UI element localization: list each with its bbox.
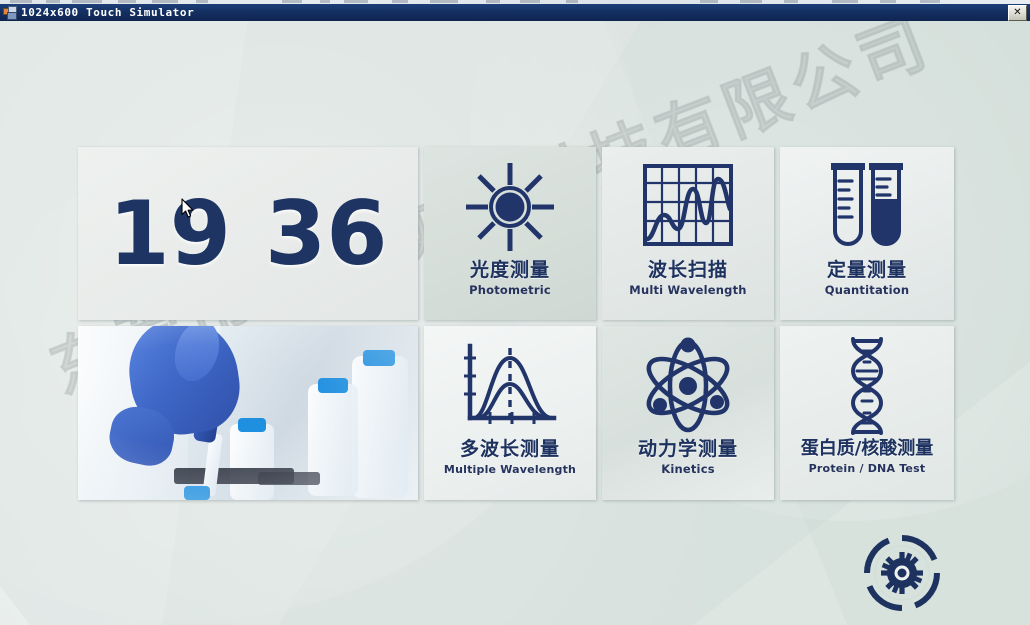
lab-photo-tile[interactable] xyxy=(78,326,418,500)
clock-display: 19 36 xyxy=(78,147,418,320)
clock-tile[interactable]: 19 36 xyxy=(78,147,418,320)
tile-kinetics[interactable]: 动力学测量 Kinetics xyxy=(602,326,774,500)
tile-kinetics-labels: 动力学测量 Kinetics xyxy=(602,440,774,476)
settings-button[interactable] xyxy=(862,533,942,613)
app-window-icon xyxy=(3,6,16,19)
tile-protein-dna-labels: 蛋白质/核酸测量 Protein / DNA Test xyxy=(780,440,954,474)
window-title: 1024x600 Touch Simulator xyxy=(21,6,194,19)
spectrum-graph-icon xyxy=(602,153,774,261)
tile-multi-wavelength-label-en: Multi Wavelength xyxy=(602,285,774,297)
tile-multi-wavelength-label-cn: 波长扫描 xyxy=(602,261,774,280)
tile-protein-dna[interactable]: 蛋白质/核酸测量 Protein / DNA Test xyxy=(780,326,954,500)
clock-minutes: 36 xyxy=(265,190,387,278)
tile-multiple-wavelength[interactable]: 多波长测量 Multiple Wavelength xyxy=(424,326,596,500)
gear-icon xyxy=(862,533,942,613)
simulator-client-area: 东莞市普标实验科技有限公司 19 36 xyxy=(0,21,1030,625)
touch-simulator-window: 1024x600 Touch Simulator ✕ 东莞市普标实验科技有限公司… xyxy=(0,0,1030,625)
tile-quantitation[interactable]: 定量测量 Quantitation xyxy=(780,147,954,320)
close-icon[interactable]: ✕ xyxy=(1008,5,1027,21)
test-tubes-icon xyxy=(780,153,954,261)
dna-helix-icon xyxy=(780,332,954,440)
tile-protein-dna-label-cn: 蛋白质/核酸测量 xyxy=(780,440,954,458)
tile-kinetics-label-cn: 动力学测量 xyxy=(602,440,774,459)
peak-curves-icon xyxy=(424,332,596,440)
lab-pipette-photo xyxy=(78,326,418,500)
home-tile-grid: 19 36 xyxy=(78,147,954,500)
tile-photometric-label-en: Photometric xyxy=(424,285,596,297)
tile-quantitation-labels: 定量测量 Quantitation xyxy=(780,261,954,297)
tile-quantitation-label-cn: 定量测量 xyxy=(780,261,954,280)
tile-protein-dna-label-en: Protein / DNA Test xyxy=(780,463,954,474)
tile-multiple-wavelength-label-cn: 多波长测量 xyxy=(424,440,596,459)
tile-multi-wavelength-labels: 波长扫描 Multi Wavelength xyxy=(602,261,774,297)
tile-kinetics-label-en: Kinetics xyxy=(602,464,774,476)
tile-multiple-wavelength-labels: 多波长测量 Multiple Wavelength xyxy=(424,440,596,475)
tile-quantitation-label-en: Quantitation xyxy=(780,285,954,297)
sun-icon xyxy=(424,153,596,261)
atom-icon xyxy=(602,332,774,440)
tile-photometric[interactable]: 光度测量 Photometric xyxy=(424,147,596,320)
tile-photometric-labels: 光度测量 Photometric xyxy=(424,261,596,297)
tile-multiple-wavelength-label-en: Multiple Wavelength xyxy=(424,464,596,475)
tile-multi-wavelength[interactable]: 波长扫描 Multi Wavelength xyxy=(602,147,774,320)
tile-photometric-label-cn: 光度测量 xyxy=(424,261,596,280)
clock-hours: 19 xyxy=(109,190,231,278)
window-titlebar[interactable]: 1024x600 Touch Simulator ✕ xyxy=(0,4,1030,22)
